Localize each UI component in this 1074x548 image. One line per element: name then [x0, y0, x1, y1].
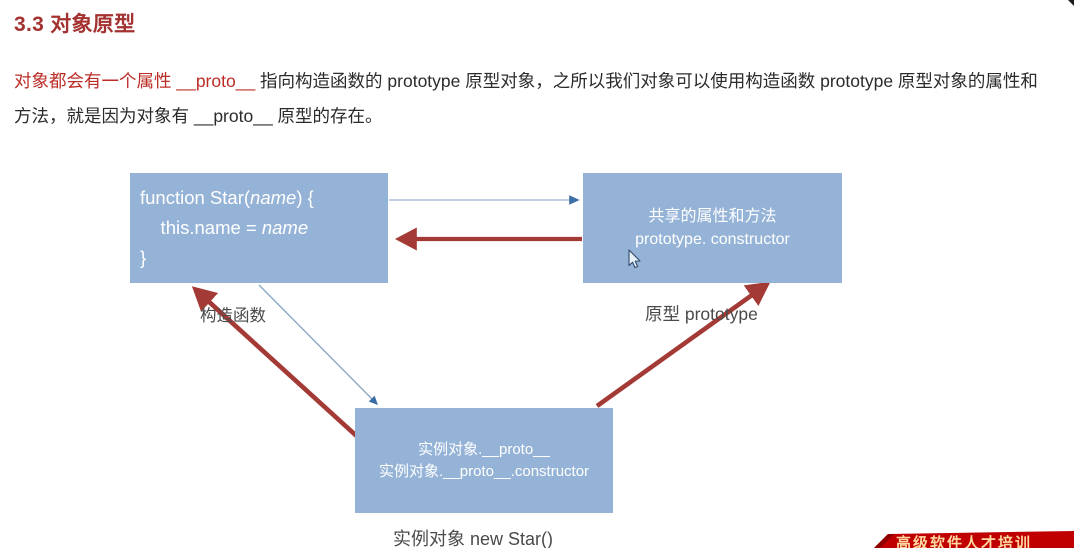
constructor-box: function Star(name) { this.name = name }	[130, 173, 388, 283]
constructor-line1-post: ) {	[296, 187, 313, 208]
instance-box-line-2: 实例对象.__proto__.constructor	[379, 461, 589, 483]
training-banner: 高级软件人才培训	[874, 531, 1074, 548]
prototype-diagram: function Star(name) { this.name = name }…	[0, 0, 1074, 548]
constructor-line2-param: name	[262, 217, 308, 238]
caption-prototype: 原型 prototype	[645, 301, 758, 326]
prototype-box-line-1: 共享的属性和方法	[648, 205, 776, 228]
constructor-line1-pre: function Star(	[140, 187, 250, 208]
mouse-cursor-icon	[628, 249, 642, 269]
prototype-box-line-2: prototype. constructor	[635, 228, 790, 251]
constructor-box-line-2: this.name = name	[140, 213, 308, 243]
arrow-constructor-to-instance	[259, 285, 377, 404]
prototype-box: 共享的属性和方法 prototype. constructor	[583, 173, 842, 283]
instance-box: 实例对象.__proto__ 实例对象.__proto__.constructo…	[355, 408, 613, 513]
corner-mark-icon	[1066, 0, 1074, 8]
constructor-box-line-3: }	[140, 243, 146, 273]
constructor-line2-pre: this.name =	[140, 217, 262, 238]
caption-instance: 实例对象 new Star()	[393, 525, 553, 548]
instance-box-line-1: 实例对象.__proto__	[418, 439, 550, 461]
banner-text: 高级软件人才培训	[896, 532, 1032, 548]
caption-constructor: 构造函数	[200, 302, 266, 326]
slide-page: 3.3 对象原型 对象都会有一个属性 __proto__ 指向构造函数的 pro…	[0, 0, 1074, 548]
constructor-line1-param: name	[250, 187, 296, 208]
constructor-box-line-1: function Star(name) {	[140, 183, 314, 213]
